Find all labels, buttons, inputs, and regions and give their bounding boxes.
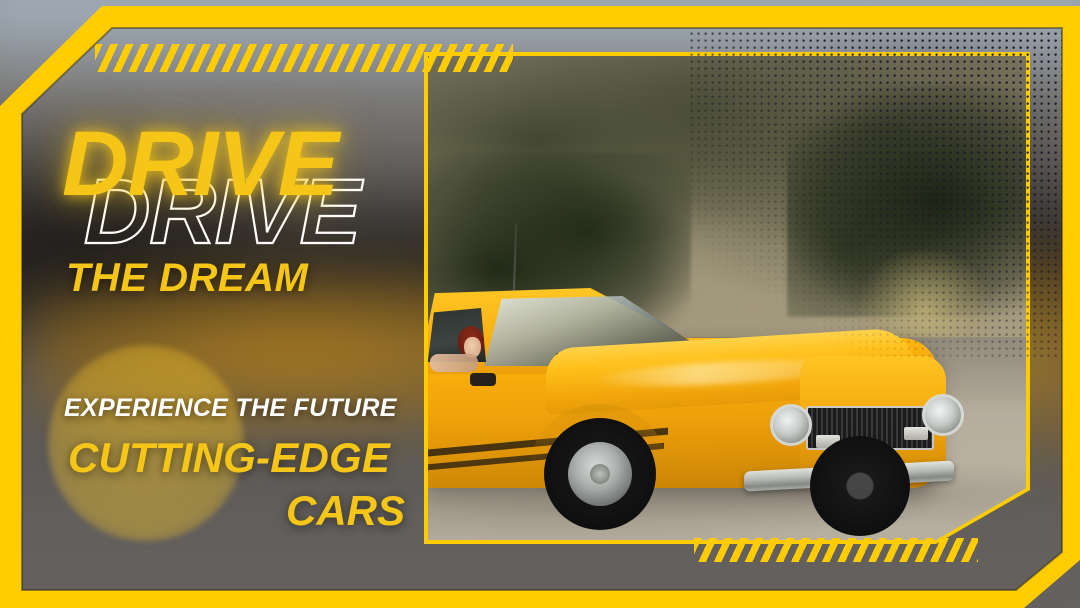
copy-block: DRIVE DRIVE THE DREAM EXPERIENCE THE FUT… bbox=[0, 0, 430, 608]
tagline-line-1: CUTTING-EDGE bbox=[68, 437, 390, 479]
hero-photo bbox=[428, 56, 1026, 540]
photo-vignette bbox=[428, 56, 1026, 540]
kicker-text: EXPERIENCE THE FUTURE bbox=[64, 396, 397, 421]
poster-canvas: DRIVE DRIVE THE DREAM EXPERIENCE THE FUT… bbox=[0, 0, 1080, 608]
the-dream-subheadline: THE DREAM bbox=[66, 258, 308, 298]
drive-headline-solid: DRIVE bbox=[62, 118, 338, 210]
drive-headline-group: DRIVE DRIVE bbox=[62, 118, 422, 258]
tagline-line-2: CARS bbox=[286, 490, 405, 532]
